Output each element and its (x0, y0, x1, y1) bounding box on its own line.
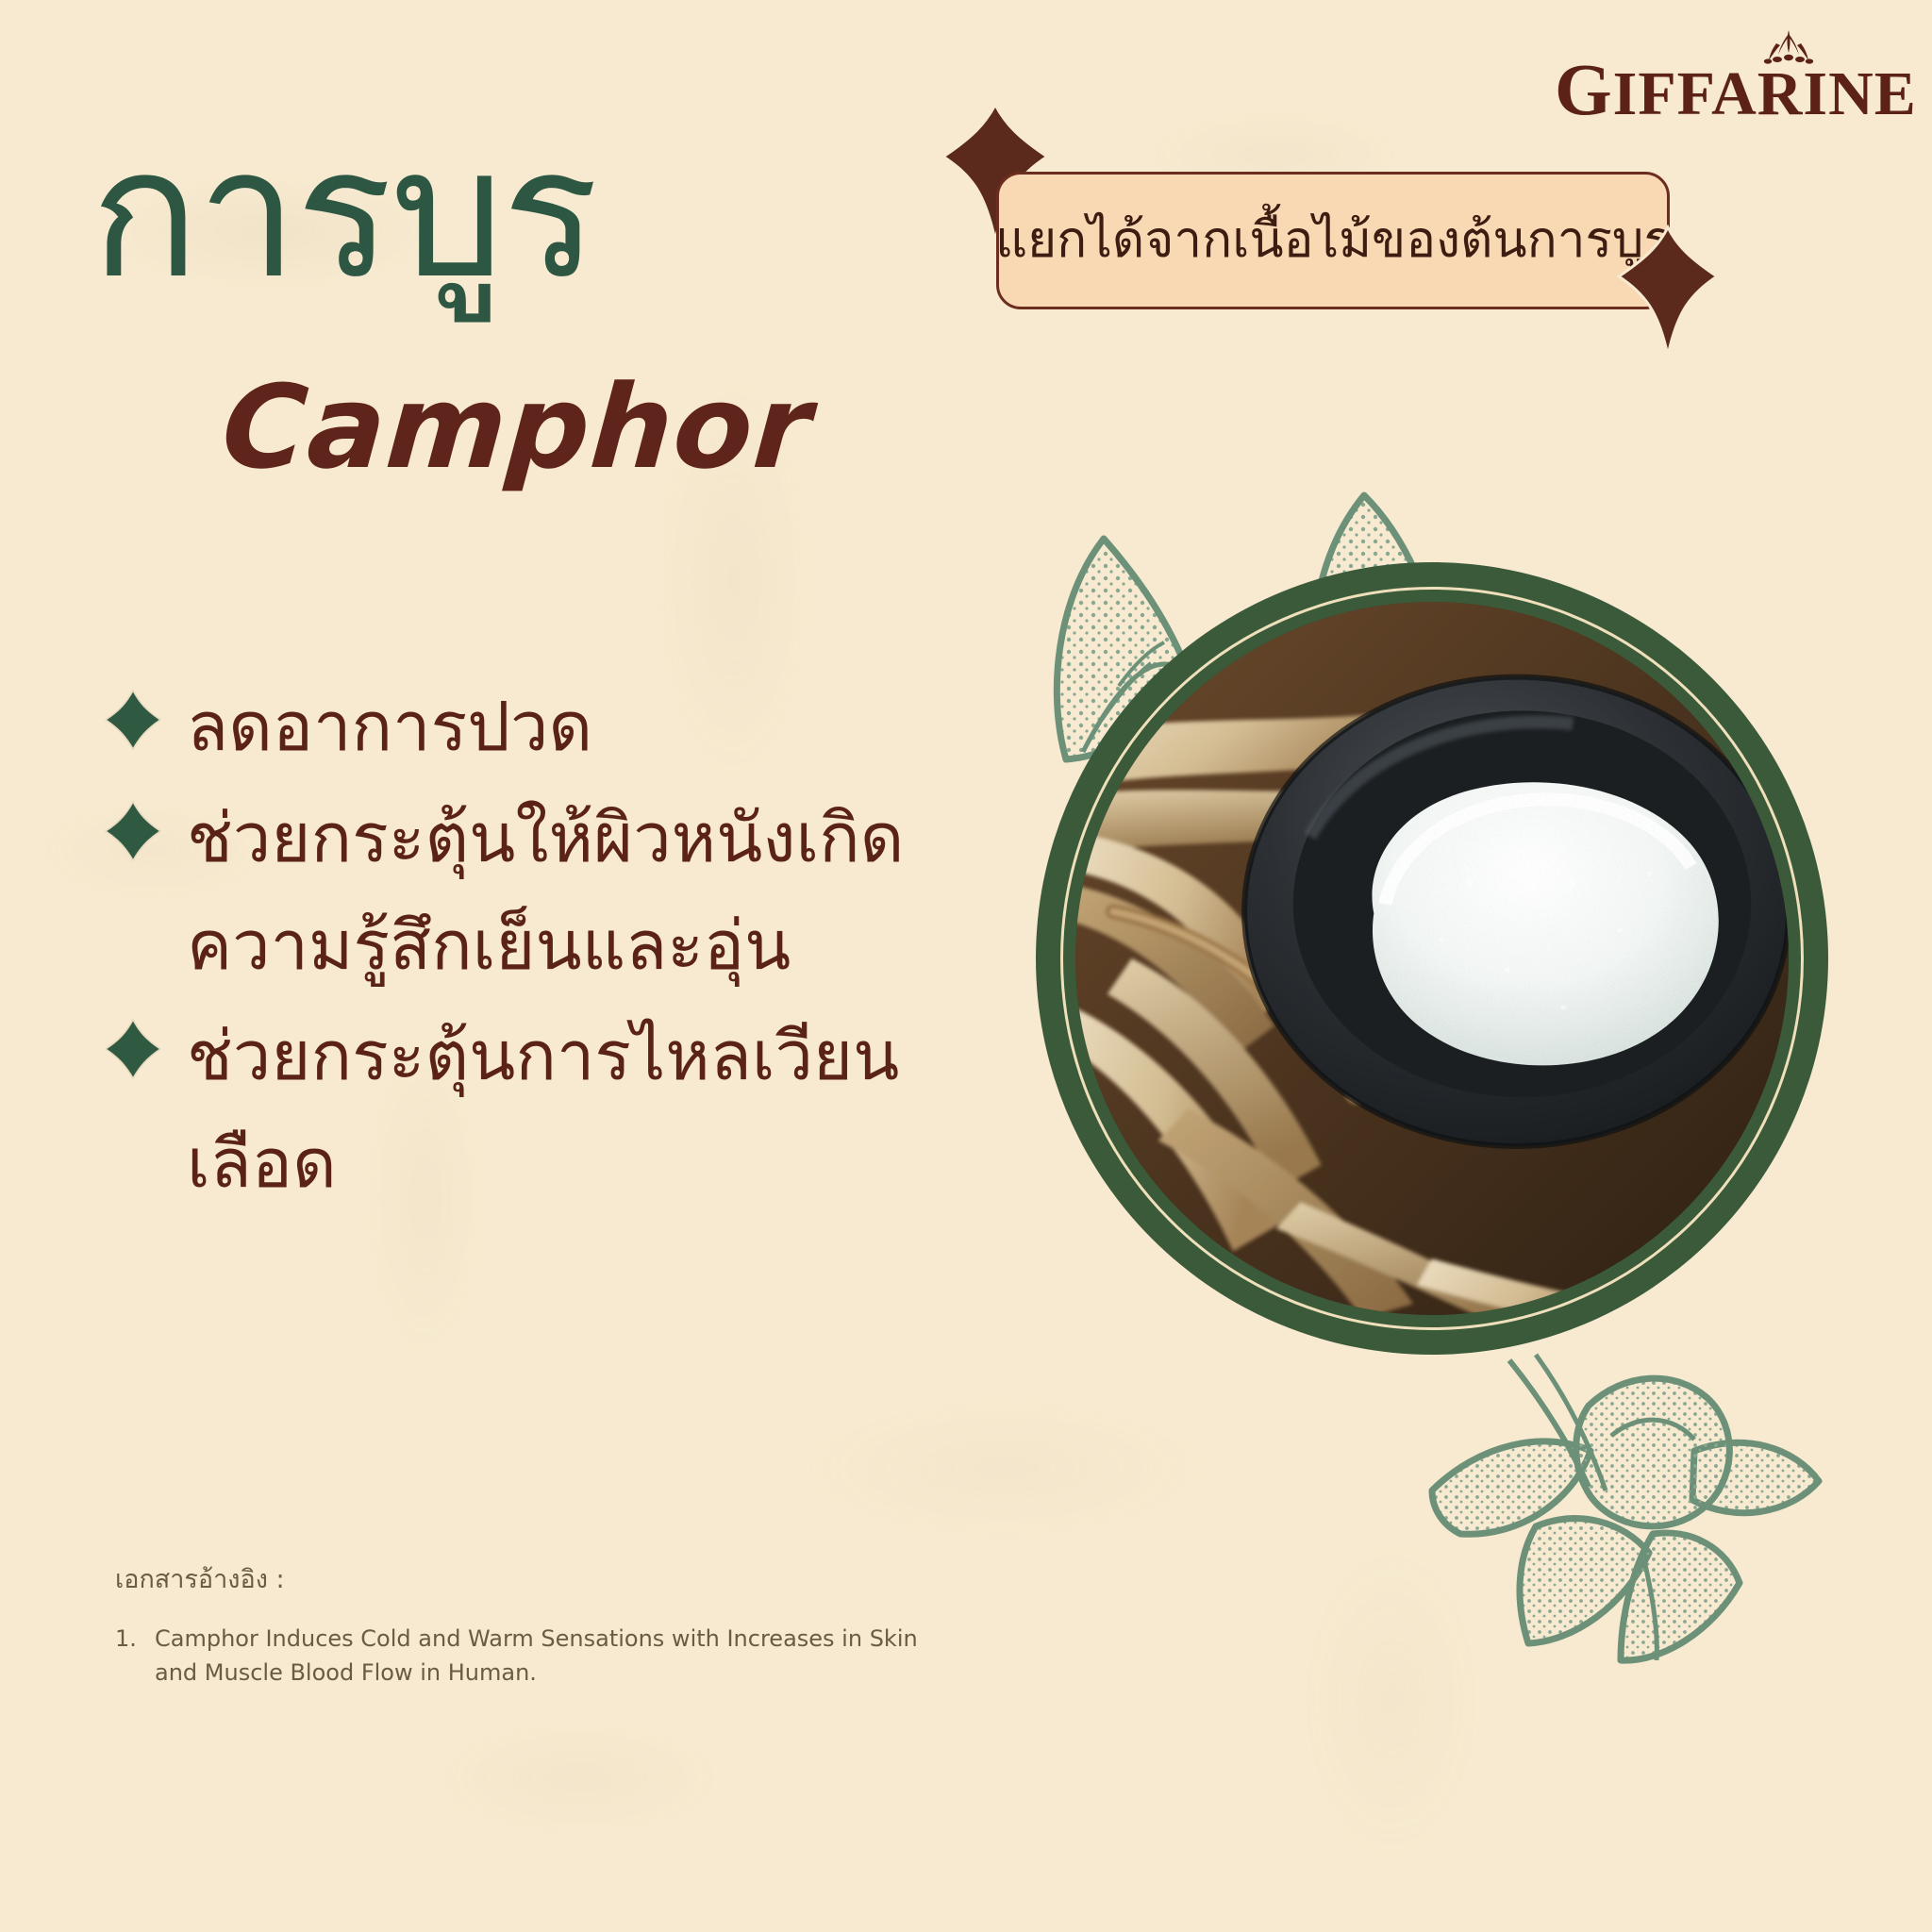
references-heading: เอกสารอ้างอิง : (115, 1558, 926, 1599)
camphor-photo-circle (1036, 562, 1828, 1355)
camphor-photo-illustration (1075, 602, 1789, 1315)
quatrefoil-bullet-icon (104, 1018, 162, 1080)
quatrefoil-bullet-icon (104, 800, 162, 862)
reference-text: Camphor Induces Cold and Warm Sensations… (155, 1622, 926, 1690)
logo-wordmark: GIFFARINE (1555, 53, 1894, 126)
references-block: เอกสารอ้างอิง : 1. Camphor Induces Cold … (115, 1558, 926, 1690)
benefit-text: ช่วยกระตุ้นให้ผิวหนังเกิดความรู้สึกเย็นแ… (187, 785, 953, 1000)
list-item: ลดอาการปวด (104, 674, 953, 781)
infographic-poster: GIFFARINE การบูร Camphor แยกได้จากเนื้อไ… (0, 0, 1932, 1932)
list-item: ช่วยกระตุ้นให้ผิวหนังเกิดความรู้สึกเย็นแ… (104, 785, 953, 1000)
badge-box: แยกได้จากเนื้อไม้ของต้นการบูร (996, 172, 1670, 309)
badge-text: แยกได้จากเนื้อไม้ของต้นการบูร (976, 207, 1690, 275)
logo-rest-letters: IFFARINE (1613, 59, 1917, 128)
quatrefoil-ornament-icon (1615, 225, 1721, 358)
source-badge: แยกได้จากเนื้อไม้ของต้นการบูร (943, 104, 1509, 368)
benefit-text: ลดอาการปวด (187, 674, 592, 781)
stippled-flower-icon (1423, 1349, 1828, 1689)
page-title-english: Camphor (219, 370, 816, 485)
camphor-photo (1075, 602, 1789, 1315)
list-item: ช่วยกระตุ้นการไหลเวียนเลือด (104, 1003, 953, 1218)
benefit-text: ช่วยกระตุ้นการไหลเวียนเลือด (187, 1003, 953, 1218)
quatrefoil-bullet-icon (104, 689, 162, 751)
logo-cap-letter: G (1555, 48, 1613, 130)
reference-item: 1. Camphor Induces Cold and Warm Sensati… (115, 1622, 926, 1690)
reference-number: 1. (115, 1622, 155, 1690)
giffarine-logo: GIFFARINE (1555, 26, 1894, 130)
page-title-thai: การบูร (91, 125, 596, 304)
benefits-list: ลดอาการปวด ช่วยกระตุ้นให้ผิวหนังเกิดความ… (104, 674, 953, 1222)
